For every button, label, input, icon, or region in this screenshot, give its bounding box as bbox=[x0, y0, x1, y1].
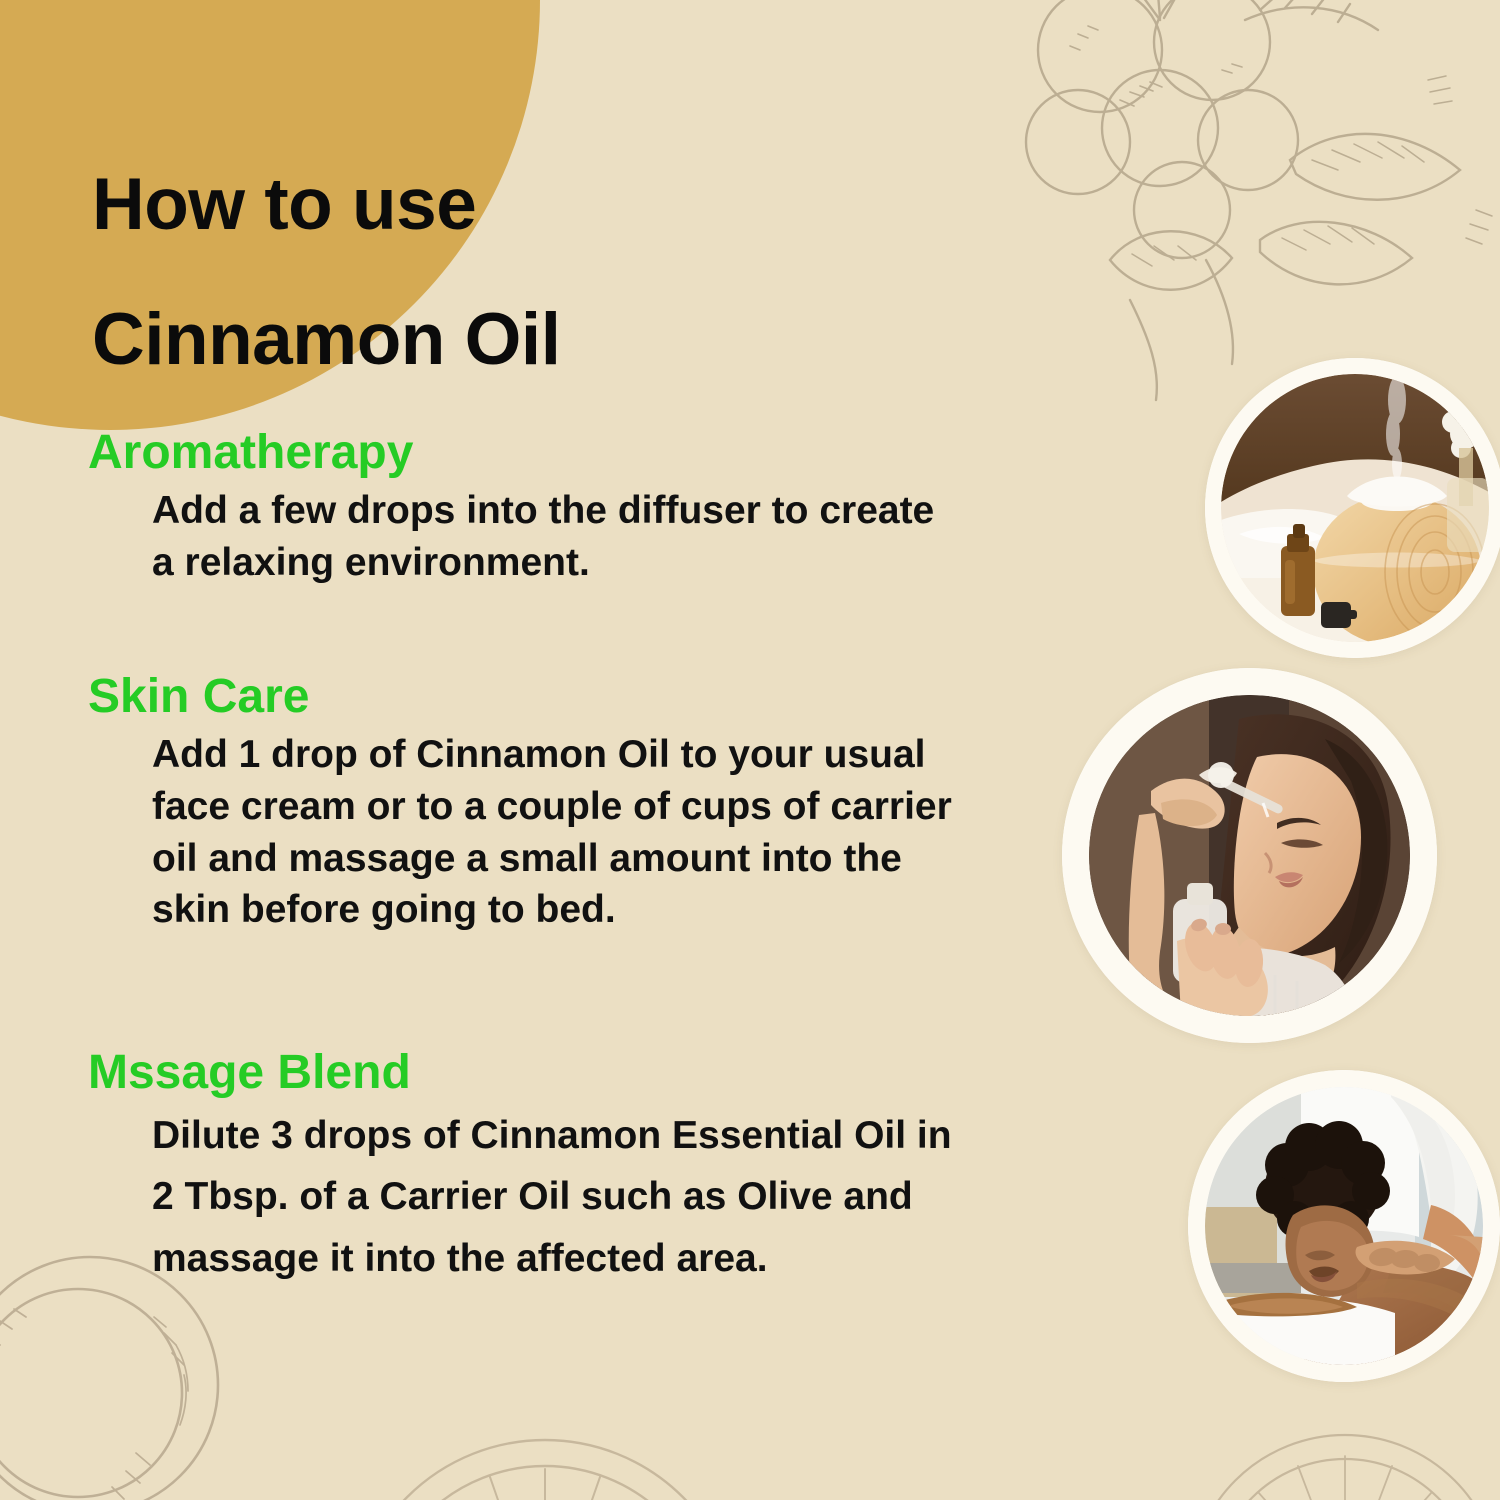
diffuser-photo bbox=[1221, 374, 1489, 642]
section-body-aromatherapy: Add a few drops into the diffuser to cre… bbox=[88, 485, 952, 589]
section-heading-mssage-blend: Mssage Blend bbox=[88, 1048, 968, 1099]
text-content-column: How to use Cinnamon Oil Aromatherapy Add… bbox=[0, 0, 1000, 1500]
skincare-photo bbox=[1089, 695, 1410, 1016]
photo-massage bbox=[1188, 1070, 1500, 1382]
section-skin-care: Skin Care Add 1 drop of Cinnamon Oil to … bbox=[88, 672, 968, 936]
botanical-branch-sketch bbox=[960, 0, 1500, 420]
section-heading-aromatherapy: Aromatherapy bbox=[88, 428, 968, 479]
section-mssage-blend: Mssage Blend Dilute 3 drops of Cinnamon … bbox=[88, 1048, 968, 1290]
section-body-skin-care: Add 1 drop of Cinnamon Oil to your usual… bbox=[88, 729, 952, 936]
photo-diffuser bbox=[1205, 358, 1500, 658]
page-title-line-2: Cinnamon Oil bbox=[92, 303, 561, 376]
section-body-mssage-blend: Dilute 3 drops of Cinnamon Essential Oil… bbox=[88, 1105, 952, 1290]
infographic-page: How to use Cinnamon Oil Aromatherapy Add… bbox=[0, 0, 1500, 1500]
photo-skincare bbox=[1062, 668, 1437, 1043]
section-heading-skin-care: Skin Care bbox=[88, 672, 968, 723]
massage-photo bbox=[1205, 1087, 1483, 1365]
page-title-line-1: How to use bbox=[92, 168, 476, 241]
section-aromatherapy: Aromatherapy Add a few drops into the di… bbox=[88, 428, 968, 589]
